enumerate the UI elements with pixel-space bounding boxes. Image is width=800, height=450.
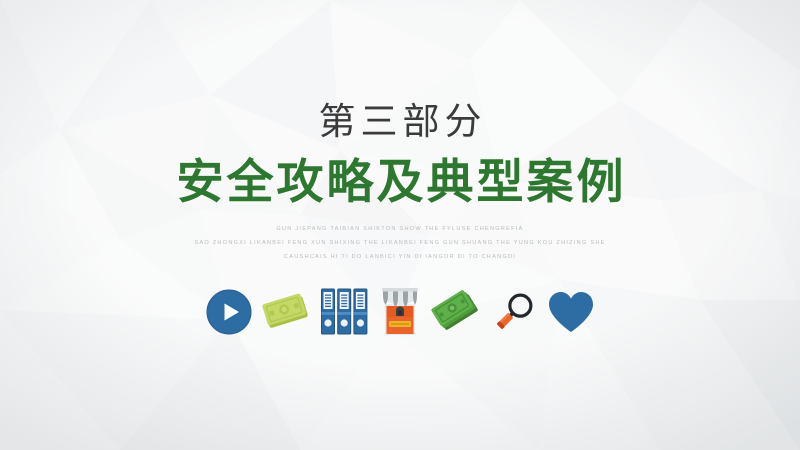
icon-cell-heart[interactable] [543,283,600,341]
play-button-icon [206,289,252,335]
subtitle-line-2: SAO ZHONGXI LIKANBEI FENG XUN SHIXING TH… [194,235,605,250]
slide-content: 第三部分 安全攻略及典型案例 GUN JIEPANG TAIBIAN SHIKT… [0,0,800,450]
magnifier-icon [490,288,538,336]
icon-cell-play[interactable] [201,283,258,341]
binders-icon [320,287,367,336]
part-title: 第三部分 [314,102,487,142]
storefront-icon [377,286,423,338]
heart-icon [547,290,595,334]
icon-row [0,283,800,341]
subtitle-line-1: GUN JIEPANG TAIBIAN SHIKTON SHOW THE FYL… [276,221,523,236]
main-title: 安全攻略及典型案例 [174,156,627,208]
presentation-slide: 第三部分 安全攻略及典型案例 GUN JIEPANG TAIBIAN SHIKT… [0,0,800,450]
subtitle-block: GUN JIEPANG TAIBIAN SHIKTON SHOW THE FYL… [0,222,800,264]
icon-cell-magnifier[interactable] [486,283,543,341]
banknote-light-icon [261,290,311,334]
icon-cell-binders[interactable] [315,283,372,341]
banknote-green-icon [432,288,482,336]
icon-cell-storefront[interactable] [372,283,429,341]
icon-cell-banknote-light[interactable] [258,283,315,341]
icon-cell-banknote-green[interactable] [429,283,486,341]
subtitle-line-3: CAUSHCAIS HI TI DO LANBICI YIN DI IANGOR… [284,249,516,264]
